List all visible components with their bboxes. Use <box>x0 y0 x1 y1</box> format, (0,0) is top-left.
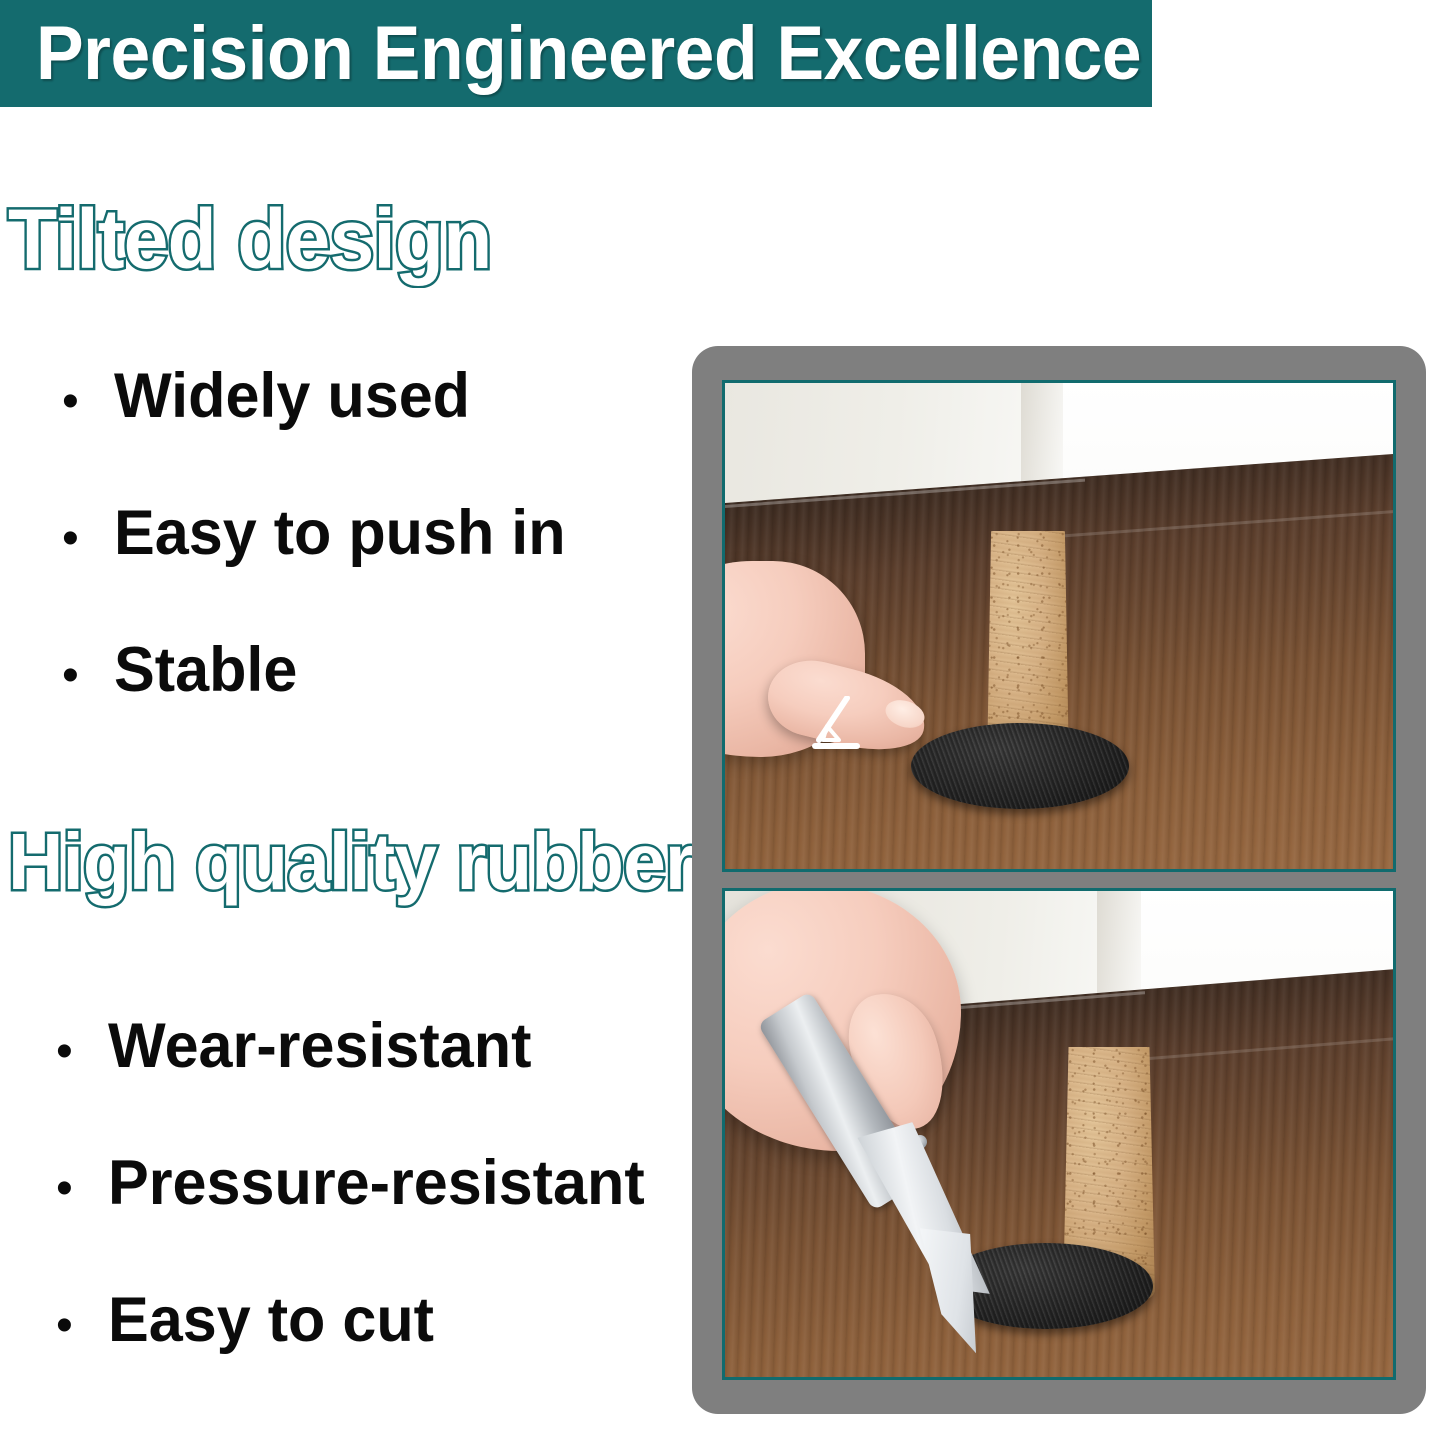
photo-cut-demo <box>722 888 1396 1380</box>
bullet-label: Widely used <box>114 365 470 428</box>
rubber-furniture-pad <box>911 723 1129 809</box>
angle-wedge-icon <box>809 696 861 754</box>
bullet-dot-icon: • <box>62 515 114 563</box>
list-item: • Easy to push in <box>62 502 580 565</box>
header-banner: Precision Engineered Excellence <box>0 0 1152 107</box>
features-column: Tilted design • Widely used • Easy to pu… <box>0 107 700 1430</box>
section-heading-high-quality-rubber: High quality rubber <box>8 822 694 902</box>
photo-push-in-demo <box>722 380 1396 872</box>
list-item: • Easy to cut <box>56 1289 661 1352</box>
bullet-dot-icon: • <box>56 1165 108 1213</box>
bullet-list-tilted-design: • Widely used • Easy to push in • Stable <box>62 365 580 776</box>
list-item: • Stable <box>62 639 580 702</box>
bullet-dot-icon: • <box>56 1302 108 1350</box>
bullet-list-high-quality-rubber: • Wear-resistant • Pressure-resistant • … <box>56 1015 661 1426</box>
list-item: • Wear-resistant <box>56 1015 661 1078</box>
bullet-label: Wear-resistant <box>108 1015 531 1078</box>
bullet-label: Easy to push in <box>114 502 566 565</box>
list-item: • Widely used <box>62 365 580 428</box>
page-title: Precision Engineered Excellence <box>36 16 1141 92</box>
list-item: • Pressure-resistant <box>56 1152 661 1215</box>
section-heading-tilted-design: Tilted design <box>8 197 491 281</box>
product-photo-frame <box>692 346 1426 1414</box>
bullet-dot-icon: • <box>56 1028 108 1076</box>
bullet-dot-icon: • <box>62 652 114 700</box>
bullet-dot-icon: • <box>62 378 114 426</box>
bullet-label: Pressure-resistant <box>108 1152 645 1215</box>
bullet-label: Easy to cut <box>108 1289 434 1352</box>
bullet-label: Stable <box>114 639 297 702</box>
